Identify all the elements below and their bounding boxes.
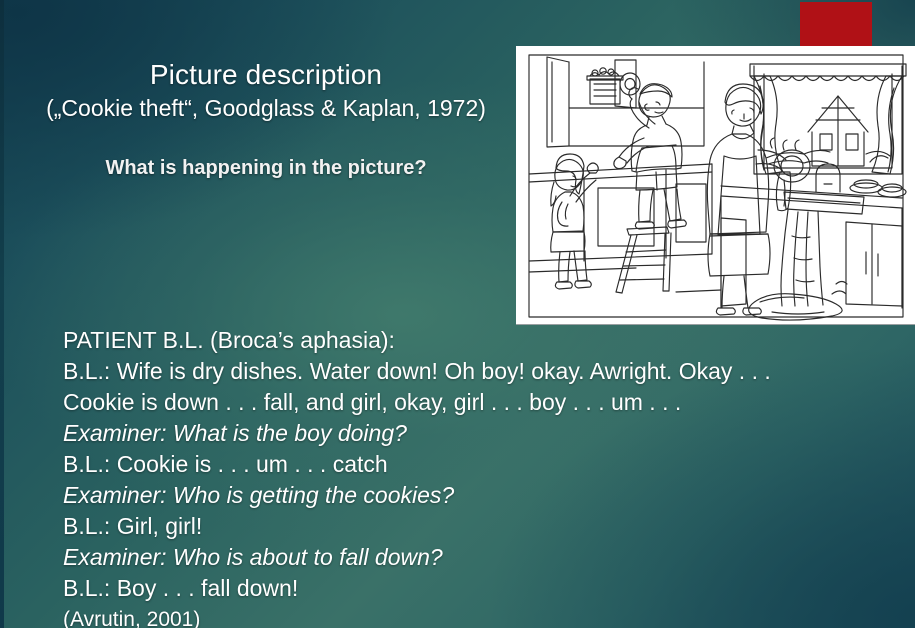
page-title: Picture description [20,58,512,92]
transcript-line: B.L.: Boy . . . fall down! [63,573,903,604]
transcript-line: B.L.: Girl, girl! [63,511,903,542]
transcript-line: PATIENT B.L. (Broca’s aphasia): [63,325,903,356]
transcript-line: B.L.: Wife is dry dishes. Water down! Oh… [63,356,903,387]
transcript-line: Examiner: What is the boy doing? [63,418,903,449]
transcript-line: (Avrutin, 2001) [63,604,903,628]
page-subtitle: („Cookie theft“, Goodglass & Kaplan, 197… [20,93,512,123]
transcript-block: PATIENT B.L. (Broca’s aphasia):B.L.: Wif… [63,325,903,628]
slide-title-block: Picture description („Cookie theft“, Goo… [20,58,512,123]
cookie-theft-illustration [516,46,915,324]
red-accent-rectangle [800,2,872,47]
prompt-question: What is happening in the picture? [20,155,512,181]
transcript-line: Examiner: Who is getting the cookies? [63,480,903,511]
transcript-line: B.L.: Cookie is . . . um . . . catch [63,449,903,480]
presentation-slide: Picture description („Cookie theft“, Goo… [0,0,915,628]
slide-left-edge-strip [0,0,4,628]
transcript-line: Cookie is down . . . fall, and girl, oka… [63,387,903,418]
transcript-line: Examiner: Who is about to fall down? [63,542,903,573]
cookie-theft-picture [516,46,915,325]
